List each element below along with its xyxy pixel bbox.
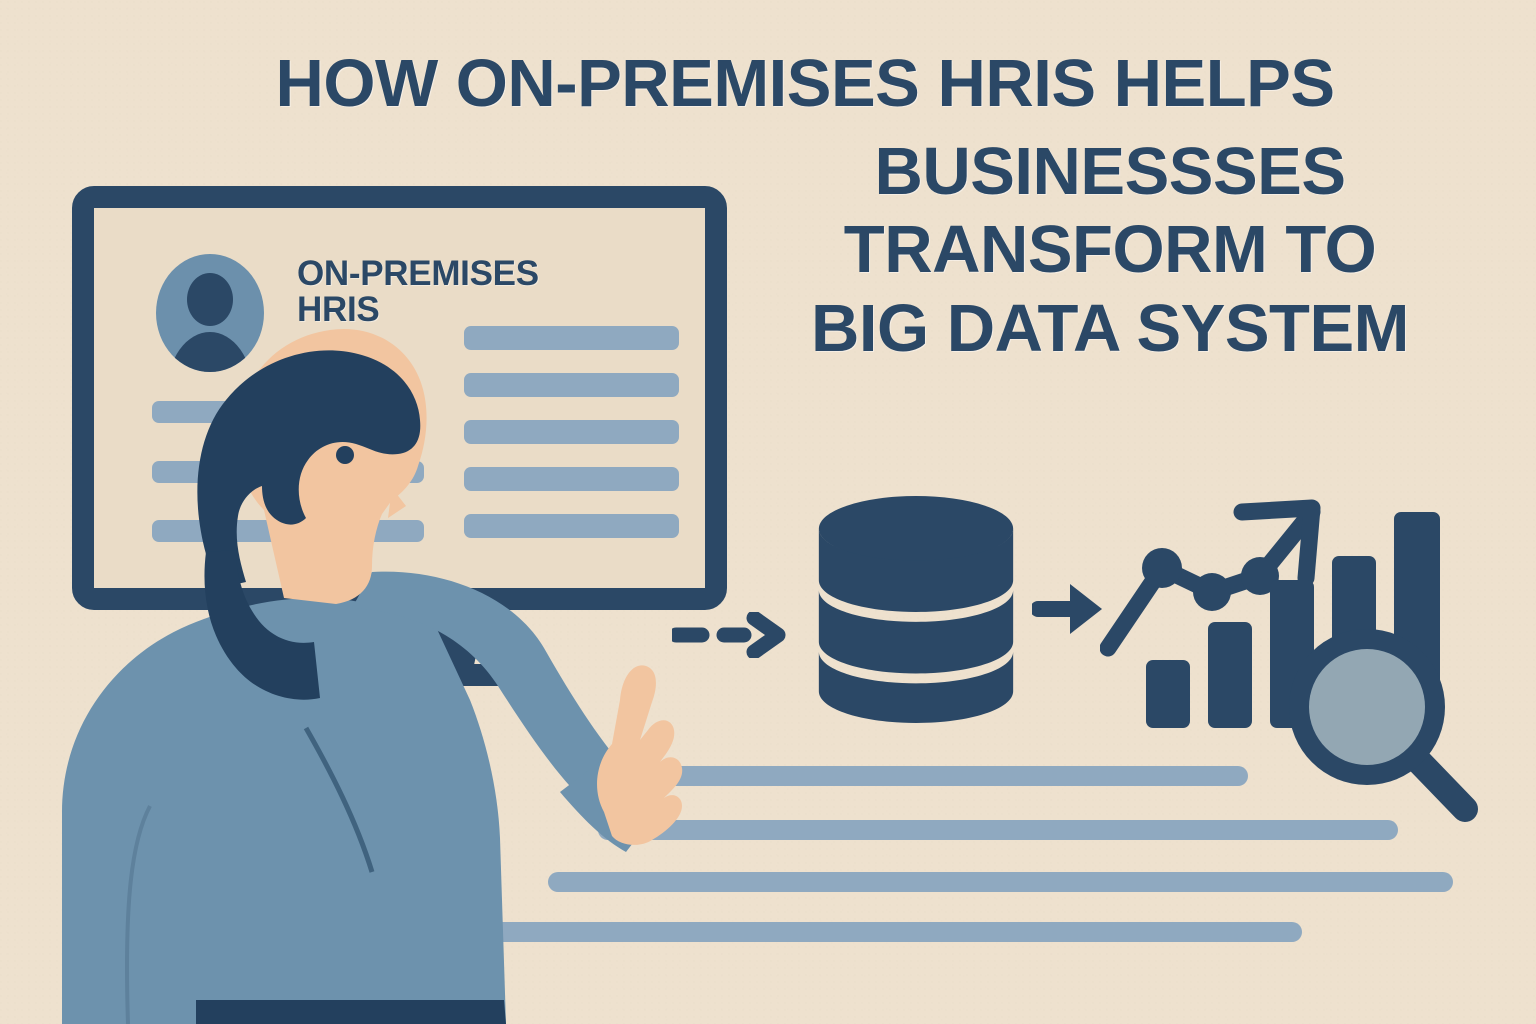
avatar-body-shape (167, 332, 253, 372)
text-line-2 (598, 820, 1398, 840)
monitor-base (330, 664, 530, 686)
poster-canvas: How On-Premises HRIS Helps Businessses T… (0, 0, 1536, 1024)
screen-right-bar (464, 420, 679, 444)
screen-right-bar (464, 326, 679, 350)
screen-left-bar (152, 520, 424, 542)
screen-left-bar (152, 461, 424, 483)
title-line-4: Big Data System (760, 297, 1460, 361)
user-avatar-icon (156, 254, 264, 372)
screen-right-bar (464, 467, 679, 491)
screen-right-bar (464, 514, 679, 538)
solid-arrow-right (1032, 578, 1110, 640)
title-line-1: How On-Premises HRIS Helps (150, 52, 1460, 116)
title-line-3: Transform To (760, 218, 1460, 282)
screen-heading-line-1: On-Premises (297, 254, 539, 293)
magnifying-glass-icon (1285, 625, 1485, 825)
desktop-monitor: On-Premises HRIS (72, 186, 727, 610)
screen-heading-line-2: HRIS (297, 290, 379, 329)
database-cylinder-icon (816, 495, 1016, 725)
screen-left-bar (152, 401, 424, 423)
text-line-4 (452, 922, 1302, 942)
chart-bar (1146, 660, 1190, 728)
text-line-3 (548, 872, 1453, 892)
chart-bar (1208, 622, 1252, 728)
text-line-1 (628, 766, 1248, 786)
screen-heading: On-Premises HRIS (297, 256, 557, 329)
title-line-2: Businessses (760, 140, 1460, 204)
poster-title: How On-Premises HRIS Helps Businessses T… (760, 52, 1460, 375)
avatar-head-shape (187, 273, 233, 326)
dashed-arrow-right (672, 612, 802, 658)
monitor-screen: On-Premises HRIS (94, 208, 705, 588)
screen-right-bar (464, 373, 679, 397)
